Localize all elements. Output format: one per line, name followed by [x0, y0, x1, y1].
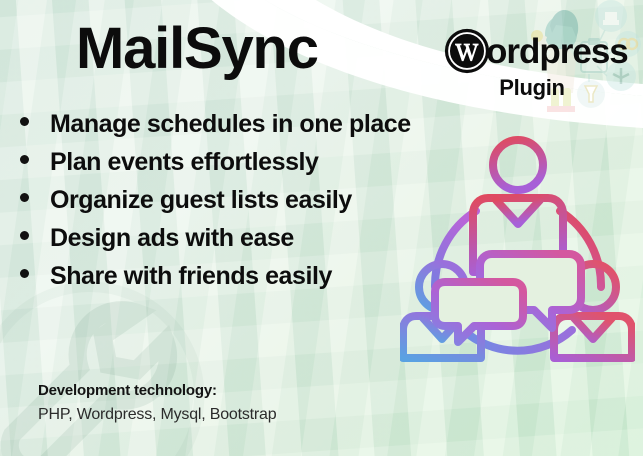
poster-canvas: MailSync ordpress Plugin Manage schedule…: [0, 0, 643, 456]
bullet-dot-icon: [20, 231, 29, 240]
feature-text: Share with friends easily: [50, 262, 332, 291]
bullet-dot-icon: [20, 193, 29, 202]
people-network-chat-illustration: [400, 132, 635, 364]
page-title: MailSync: [76, 20, 318, 78]
footer-tech-stack: PHP, Wordpress, Mysql, Bootstrap: [38, 406, 276, 424]
feature-text: Plan events effortlessly: [50, 148, 319, 177]
footer-block: Development technology: PHP, Wordpress, …: [38, 382, 276, 424]
badge-subtitle: Plugin: [444, 75, 634, 101]
wordpress-plugin-badge: ordpress Plugin: [444, 28, 634, 101]
wordpress-logo-icon: [444, 28, 490, 74]
feature-text: Organize guest lists easily: [50, 186, 352, 215]
wordpress-wordmark: ordpress: [486, 34, 628, 69]
list-item: Organize guest lists easily: [20, 186, 411, 224]
bullet-dot-icon: [20, 269, 29, 278]
wordpress-logo-row: ordpress: [444, 28, 634, 74]
list-item: Share with friends easily: [20, 262, 411, 300]
feature-text: Manage schedules in one place: [50, 110, 411, 139]
list-item: Manage schedules in one place: [20, 110, 411, 148]
list-item: Plan events effortlessly: [20, 148, 411, 186]
feature-text: Design ads with ease: [50, 224, 294, 253]
bullet-dot-icon: [20, 155, 29, 164]
footer-heading: Development technology:: [38, 382, 276, 399]
bullet-dot-icon: [20, 117, 29, 126]
list-item: Design ads with ease: [20, 224, 411, 262]
feature-list: Manage schedules in one place Plan event…: [20, 110, 411, 300]
